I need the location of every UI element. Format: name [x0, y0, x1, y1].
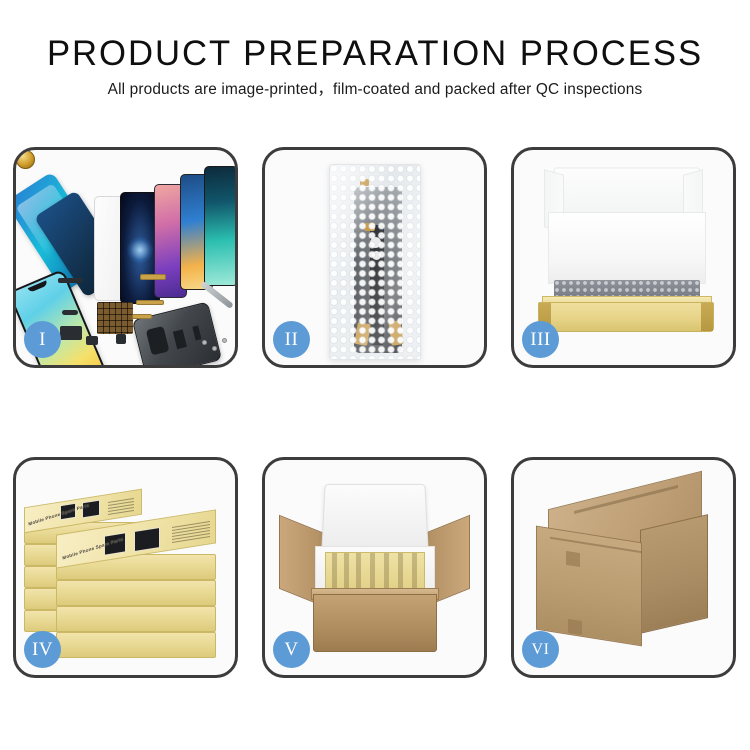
- stacked-box-r4: [56, 632, 216, 658]
- step-badge-3: III: [522, 321, 559, 358]
- carton-side-face: [640, 514, 708, 634]
- process-step-6: VI: [511, 457, 736, 678]
- speaker-bar-part: [58, 278, 82, 283]
- step-badge-6: VI: [522, 631, 559, 668]
- screw-b: [212, 346, 217, 351]
- small-chip-part: [116, 334, 126, 344]
- product-preparation-infographic: PRODUCT PREPARATION PROCESS All products…: [0, 0, 750, 750]
- teal-gradient-phone: [204, 166, 235, 286]
- carton-tape-upper: [566, 551, 580, 567]
- gold-flex-strip-c: [132, 314, 152, 319]
- carton-tape-lower: [568, 619, 582, 635]
- gold-coin-component: [16, 150, 35, 169]
- step-badge-1: I: [24, 321, 61, 358]
- yellow-box-front: [538, 302, 714, 332]
- page-subtitle: All products are image-printed，film-coat…: [0, 80, 750, 100]
- process-step-grid: I II: [13, 147, 737, 678]
- bubble-wrap-bag: [329, 164, 421, 360]
- yellow-boxes-inside: [325, 552, 425, 590]
- taptic-engine-part: [86, 336, 98, 345]
- carton-front: [313, 594, 437, 652]
- process-step-2: II: [262, 147, 487, 368]
- step-badge-2: II: [273, 321, 310, 358]
- box-inner-wall: [548, 212, 706, 284]
- step-badge-4: IV: [24, 631, 61, 668]
- box-window-l-b: [82, 500, 100, 519]
- page-title: PRODUCT PREPARATION PROCESS: [4, 33, 747, 75]
- flex-cable-part: [62, 310, 78, 315]
- chip-grid-component: [97, 302, 133, 334]
- header: PRODUCT PREPARATION PROCESS All products…: [0, 0, 750, 100]
- process-step-3: III: [511, 147, 736, 368]
- screw-a: [222, 338, 227, 343]
- gold-flex-strip-a: [140, 274, 166, 280]
- stacked-box-r3: [56, 606, 216, 632]
- box-window-r-b: [134, 527, 160, 552]
- screw-c: [202, 340, 207, 345]
- camera-module-part: [60, 326, 82, 340]
- plastic-sheen: [330, 165, 420, 359]
- gold-flex-strip-b: [136, 300, 164, 305]
- phone-back-housing: [132, 301, 222, 365]
- stacked-box-r2: [56, 580, 216, 606]
- step-badge-5: V: [273, 631, 310, 668]
- foam-lid: [321, 484, 429, 552]
- process-step-4: Mobile Phone Spare Parts Mobile Phone Sp…: [13, 457, 238, 678]
- process-step-5: V: [262, 457, 487, 678]
- process-step-1: I: [13, 147, 238, 368]
